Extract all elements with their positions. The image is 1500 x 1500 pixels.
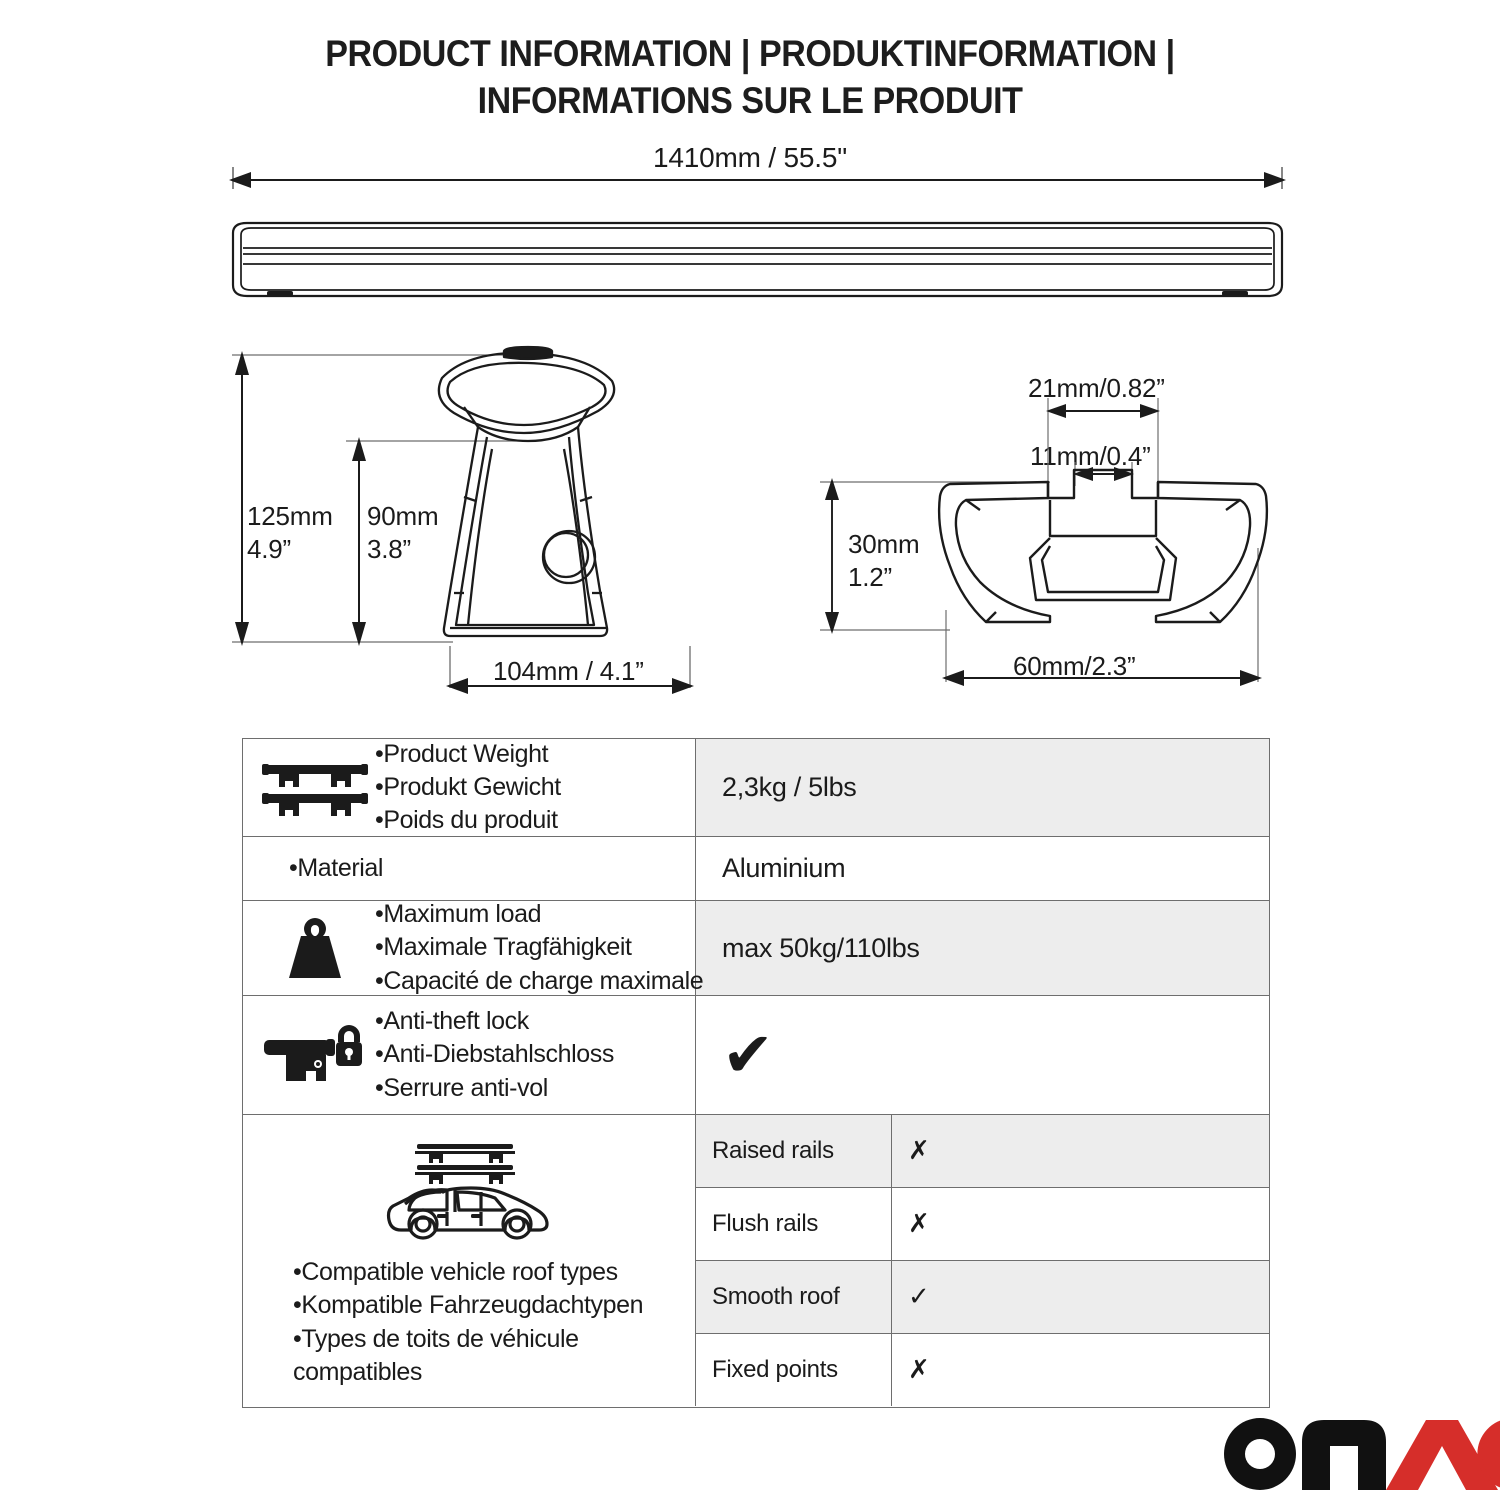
roof-type-name: Fixed points <box>696 1334 892 1406</box>
roof-bar-cross-section-icon <box>810 360 1290 700</box>
table-row: •Compatible vehicle roof types •Kompatib… <box>243 1115 1269 1406</box>
roof-type-row: Raised rails ✗ <box>696 1115 1269 1188</box>
row-value-cell: max 50kg/110lbs <box>696 901 1269 995</box>
page-title: PRODUCT INFORMATION | PRODUKTINFORMATION… <box>60 30 1440 125</box>
row-labels: •Maximum load •Maximale Tragfähigkeit •C… <box>375 898 703 998</box>
roof-type-mark: ✗ <box>892 1115 1269 1187</box>
roof-type-name: Flush rails <box>696 1188 892 1260</box>
label-line: •Types de toits de véhicule <box>293 1323 643 1356</box>
foot-overall-height-label: 125mm4.9” <box>247 500 333 565</box>
row-labels: •Compatible vehicle roof types •Kompatib… <box>243 1256 643 1389</box>
row-labels: •Product Weight •Produkt Gewicht •Poids … <box>375 738 561 838</box>
row-label-cell: •Compatible vehicle roof types •Kompatib… <box>243 1115 696 1406</box>
foot-inner-height-label: 90mm3.8” <box>367 500 438 565</box>
label-line: •Anti-Diebstahlschloss <box>375 1038 614 1071</box>
label-line: compatibles <box>293 1356 643 1389</box>
weight-icon <box>255 916 375 980</box>
roof-type-name: Raised rails <box>696 1115 892 1187</box>
car-with-crossbars-icon <box>243 1132 695 1250</box>
row-value-cell: ✔ <box>696 996 1269 1114</box>
crossbars-icon <box>255 758 375 818</box>
label-line: •Anti-theft lock <box>375 1005 614 1038</box>
row-labels: •Material <box>255 852 383 885</box>
roof-type-mark: ✗ <box>892 1188 1269 1260</box>
roof-type-row: Flush rails ✗ <box>696 1188 1269 1261</box>
label-line: •Maximum load <box>375 898 703 931</box>
checkmark-icon: ✔ <box>722 1024 774 1086</box>
table-row: •Product Weight •Produkt Gewicht •Poids … <box>243 739 1269 837</box>
roof-type-row: Smooth roof ✓ <box>696 1261 1269 1334</box>
row-label-cell: •Anti-theft lock •Anti-Diebstahlschloss … <box>243 996 696 1114</box>
label-line: •Product Weight <box>375 738 561 771</box>
omac-logo <box>1218 1412 1500 1492</box>
label-line: •Compatible vehicle roof types <box>293 1256 643 1289</box>
lock-icon <box>255 1020 375 1090</box>
label-line: •Poids du produit <box>375 804 561 837</box>
row-value-cell: 2,3kg / 5lbs <box>696 739 1269 836</box>
roof-type-name: Smooth roof <box>696 1261 892 1333</box>
table-row: •Anti-theft lock •Anti-Diebstahlschloss … <box>243 996 1269 1115</box>
label-line: •Produkt Gewicht <box>375 771 561 804</box>
spec-table: •Product Weight •Produkt Gewicht •Poids … <box>242 738 1270 1408</box>
label-line: •Kompatible Fahrzeugdachtypen <box>293 1289 643 1322</box>
roof-type-mark: ✗ <box>892 1334 1269 1406</box>
product-info-sheet: PRODUCT INFORMATION | PRODUKTINFORMATION… <box>0 0 1500 1500</box>
row-label-cell: •Product Weight •Produkt Gewicht •Poids … <box>243 739 696 836</box>
row-labels: •Anti-theft lock •Anti-Diebstahlschloss … <box>375 1005 614 1105</box>
label-line: •Capacité de charge maximale <box>375 965 703 998</box>
title-line-2: INFORMATIONS SUR LE PRODUIT <box>60 77 1440 124</box>
table-row: •Material Aluminium <box>243 837 1269 901</box>
foot-width-dimension <box>440 640 700 700</box>
label-line: •Serrure anti-vol <box>375 1072 614 1105</box>
roof-types-subtable: Raised rails ✗ Flush rails ✗ Smooth roof… <box>696 1115 1269 1406</box>
row-label-cell: •Material <box>243 837 696 900</box>
table-row: •Maximum load •Maximale Tragfähigkeit •C… <box>243 901 1269 996</box>
row-value-cell: Aluminium <box>696 837 1269 900</box>
title-line-1: PRODUCT INFORMATION | PRODUKTINFORMATION… <box>60 30 1440 77</box>
roof-type-mark: ✓ <box>892 1261 1269 1333</box>
roof-bar-top-view-icon <box>225 165 1290 315</box>
label-line: •Material <box>289 852 383 885</box>
roof-type-row: Fixed points ✗ <box>696 1334 1269 1406</box>
label-line: •Maximale Tragfähigkeit <box>375 931 703 964</box>
row-label-cell: •Maximum load •Maximale Tragfähigkeit •C… <box>243 901 696 995</box>
